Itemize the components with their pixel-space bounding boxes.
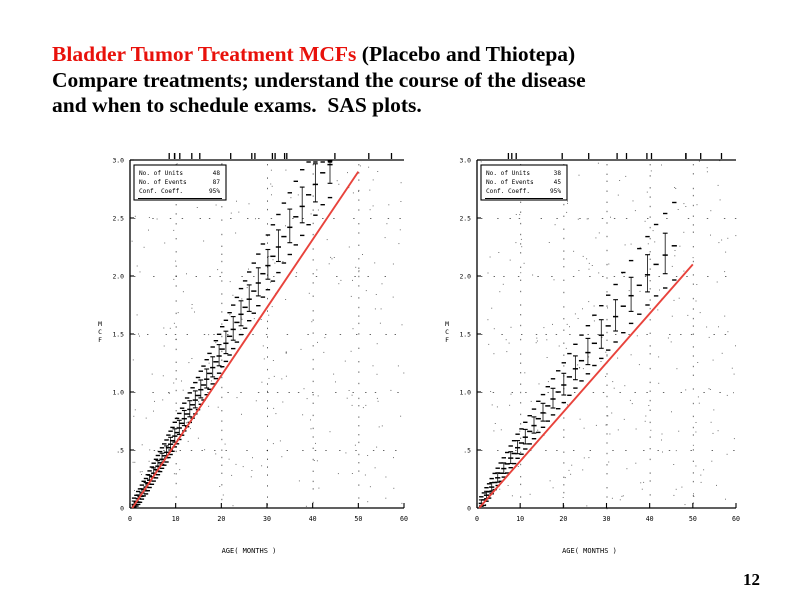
scan-artifact-dot: [140, 471, 141, 472]
scan-artifact-dot: [519, 431, 520, 432]
scan-artifact-dot: [659, 290, 660, 291]
scan-artifact-row-dot: [556, 450, 557, 451]
scan-artifact-row-dot: [399, 218, 400, 219]
scan-artifact-column-dot: [358, 307, 359, 308]
scan-artifact-dot: [188, 362, 189, 363]
scan-artifact-dot: [330, 431, 331, 432]
y-axis-title-char: C: [445, 328, 449, 336]
scan-artifact-dot: [579, 175, 580, 176]
scan-artifact-dot: [280, 440, 281, 441]
scan-artifact-dot: [377, 398, 378, 399]
scan-artifact-dot: [142, 471, 143, 472]
scan-artifact-dot: [584, 457, 585, 458]
scan-artifact-dot: [378, 401, 379, 402]
scan-artifact-dot: [548, 381, 549, 382]
scan-artifact-row-dot: [204, 334, 205, 335]
scan-artifact-column-dot: [607, 164, 608, 165]
scan-artifact-dot: [382, 425, 383, 426]
scan-artifact-row-dot: [163, 450, 164, 451]
scan-artifact-column-dot: [563, 429, 564, 430]
scan-artifact-column-dot: [650, 345, 651, 346]
scan-artifact-column-dot: [176, 238, 177, 239]
scan-artifact-dot: [494, 328, 495, 329]
title-line-2: Compare treatments; understand the cours…: [52, 68, 742, 94]
scan-artifact-dot: [635, 210, 636, 211]
scan-artifact-row-dot: [292, 218, 293, 219]
scan-artifact-dot: [204, 449, 205, 450]
scan-artifact-row-dot: [176, 276, 177, 277]
scan-artifact-dot: [718, 326, 719, 327]
scan-artifact-row-dot: [707, 276, 708, 277]
scan-artifact-column-dot: [520, 372, 521, 373]
right-plot-xlabel: AGE( MONTHS ): [562, 547, 617, 555]
legend-row-value: 48: [213, 170, 221, 177]
scan-artifact-column-dot: [650, 391, 651, 392]
scan-artifact-column-dot: [221, 420, 222, 421]
scan-artifact-dot: [516, 214, 517, 215]
scan-artifact-row-dot: [545, 450, 546, 451]
legend-row-value: 87: [213, 179, 221, 186]
scan-artifact-dot: [563, 497, 564, 498]
scan-artifact-row-dot: [170, 218, 171, 219]
y-tick-label: .5: [116, 446, 124, 454]
scan-artifact-column-dot: [520, 252, 521, 253]
scan-artifact-column-dot: [176, 390, 177, 391]
scan-artifact-column-dot: [607, 415, 608, 416]
scan-artifact-column-dot: [520, 291, 521, 292]
scan-artifact-column-dot: [267, 391, 268, 392]
scan-artifact-dot: [508, 485, 509, 486]
scan-artifact-dot: [197, 207, 198, 208]
scan-artifact-column-dot: [650, 299, 651, 300]
scan-artifact-dot: [310, 419, 311, 420]
scan-artifact-dot: [701, 482, 702, 483]
scan-artifact-dot: [173, 383, 174, 384]
scan-artifact-row-dot: [191, 450, 192, 451]
scan-artifact-row-dot: [691, 450, 692, 451]
scan-artifact-dot: [264, 358, 265, 359]
scan-artifact-dot: [401, 182, 402, 183]
scan-artifact-dot: [612, 498, 613, 499]
scan-artifact-dot: [271, 170, 272, 171]
scan-artifact-row-dot: [503, 276, 504, 277]
scan-artifact-row-dot: [295, 276, 296, 277]
scan-artifact-row-dot: [258, 218, 259, 219]
scan-artifact-dot: [338, 283, 339, 284]
scan-artifact-column-dot: [607, 424, 608, 425]
y-axis-title-char: F: [445, 336, 449, 344]
scan-artifact-row-dot: [501, 334, 502, 335]
scan-artifact-dot: [589, 269, 590, 270]
scan-artifact-column-dot: [563, 266, 564, 267]
scan-artifact-column-dot: [358, 371, 359, 372]
scan-artifact-dot: [503, 284, 504, 285]
left-plot-xlabel-host: AGE( MONTHS ): [88, 540, 410, 558]
scan-artifact-dot: [229, 459, 230, 460]
scan-artifact-dot: [375, 308, 376, 309]
scan-artifact-row-dot: [659, 276, 660, 277]
scan-artifact-row-dot: [481, 334, 482, 335]
scan-artifact-dot: [683, 203, 684, 204]
scan-artifact-column-dot: [313, 282, 314, 283]
legend-row-label: No. of Units: [139, 170, 183, 177]
legend-row-label: Conf. Coeff.: [486, 188, 530, 195]
scan-artifact-dot: [208, 334, 209, 335]
scan-artifact-column-dot: [693, 472, 694, 473]
scan-artifact-dot: [648, 405, 649, 406]
scan-artifact-row-dot: [666, 218, 667, 219]
scan-artifact-column-dot: [650, 308, 651, 309]
slide-canvas: Bladder Tumor Treatment MCFs (Placebo an…: [0, 0, 792, 612]
scan-artifact-dot: [296, 272, 297, 273]
scan-artifact-row-dot: [368, 276, 369, 277]
scan-artifact-column-dot: [650, 206, 651, 207]
scan-artifact-column-dot: [693, 434, 694, 435]
scan-artifact-column-dot: [650, 368, 651, 369]
scan-artifact-dot: [318, 488, 319, 489]
scan-artifact-column-dot: [520, 438, 521, 439]
scan-artifact-row-dot: [202, 450, 203, 451]
scan-artifact-dot: [270, 184, 271, 185]
scan-artifact-column-dot: [358, 315, 359, 316]
scan-artifact-row-dot: [287, 334, 288, 335]
scan-artifact-row-dot: [220, 276, 221, 277]
scan-artifact-dot: [537, 341, 538, 342]
scan-artifact-column-dot: [176, 285, 177, 286]
scan-artifact-dot: [607, 307, 608, 308]
scan-artifact-row-dot: [209, 276, 210, 277]
scan-artifact-row-dot: [518, 276, 519, 277]
legend-row-label: No. of Events: [139, 179, 187, 186]
scan-artifact-dot: [645, 416, 646, 417]
scan-artifact-dot: [722, 353, 723, 354]
scan-artifact-dot: [711, 422, 712, 423]
scan-artifact-column-dot: [650, 175, 651, 176]
scan-artifact-dot: [286, 353, 287, 354]
scan-artifact-dot: [236, 201, 237, 202]
scan-artifact-dot: [379, 426, 380, 427]
scan-artifact-dot: [654, 241, 655, 242]
scan-artifact-row-dot: [494, 276, 495, 277]
scan-artifact-column-dot: [520, 212, 521, 213]
scan-artifact-dot: [137, 314, 138, 315]
scan-artifact-row-dot: [147, 334, 148, 335]
scan-artifact-column-dot: [221, 351, 222, 352]
scan-artifact-dot: [653, 230, 654, 231]
scan-artifact-row-dot: [623, 276, 624, 277]
scan-artifact-row-dot: [180, 450, 181, 451]
scan-artifact-dot: [518, 466, 519, 467]
scan-artifact-dot: [173, 279, 174, 280]
scan-artifact-dot: [643, 482, 644, 483]
scan-artifact-dot: [637, 335, 638, 336]
scan-artifact-dot: [144, 247, 145, 248]
scan-artifact-dot: [703, 469, 704, 470]
scan-artifact-dot: [547, 357, 548, 358]
scan-artifact-dot: [695, 432, 696, 433]
scan-artifact-dot: [370, 209, 371, 210]
scan-artifact-column-dot: [693, 355, 694, 356]
scan-artifact-column-dot: [221, 410, 222, 411]
scan-artifact-column-dot: [267, 485, 268, 486]
scan-artifact-dot: [633, 200, 634, 201]
scan-artifact-row-dot: [336, 276, 337, 277]
scan-artifact-dot: [358, 271, 359, 272]
scan-artifact-row-dot: [669, 334, 670, 335]
scan-artifact-dot: [315, 443, 316, 444]
scan-artifact-dot: [230, 281, 231, 282]
scan-artifact-dot: [192, 304, 193, 305]
scan-artifact-dot: [724, 271, 725, 272]
scan-artifact-column-dot: [650, 319, 651, 320]
scan-artifact-column-dot: [563, 355, 564, 356]
scan-artifact-column-dot: [267, 408, 268, 409]
scan-artifact-dot: [488, 344, 489, 345]
scan-artifact-dot: [707, 167, 708, 168]
scan-artifact-row-dot: [302, 450, 303, 451]
scan-artifact-column-dot: [221, 234, 222, 235]
scan-artifact-row-dot: [273, 276, 274, 277]
scan-artifact-column-dot: [563, 477, 564, 478]
scan-artifact-dot: [707, 171, 708, 172]
scan-artifact-column-dot: [607, 202, 608, 203]
scan-artifact-dot: [333, 374, 334, 375]
scan-artifact-row-dot: [548, 392, 549, 393]
scan-artifact-dot: [711, 461, 712, 462]
scan-artifact-column-dot: [313, 359, 314, 360]
scan-artifact-row-dot: [333, 218, 334, 219]
scan-artifact-row-dot: [541, 218, 542, 219]
scan-artifact-dot: [617, 358, 618, 359]
scan-artifact-dot: [133, 359, 134, 360]
scan-artifact-row-dot: [481, 450, 482, 451]
scan-artifact-column-dot: [313, 428, 314, 429]
scan-artifact-dot: [235, 233, 236, 234]
scan-artifact-row-dot: [267, 450, 268, 451]
scan-artifact-dot: [223, 495, 224, 496]
scan-artifact-dot: [566, 212, 567, 213]
scan-artifact-dot: [673, 495, 674, 496]
scan-artifact-dot: [183, 291, 184, 292]
scan-artifact-column-dot: [358, 285, 359, 286]
scan-artifact-row-dot: [635, 392, 636, 393]
y-tick-label: 0: [467, 504, 471, 512]
scan-artifact-dot: [347, 398, 348, 399]
scan-artifact-dot: [133, 416, 134, 417]
scan-artifact-dot: [546, 413, 547, 414]
scan-artifact-dot: [642, 489, 643, 490]
scan-artifact-column-dot: [693, 318, 694, 319]
scan-artifact-column-dot: [607, 174, 608, 175]
scan-artifact-dot: [733, 392, 734, 393]
scan-artifact-column-dot: [607, 496, 608, 497]
scan-artifact-dot: [365, 405, 366, 406]
scan-artifact-dot: [658, 356, 659, 357]
scan-artifact-row-dot: [325, 450, 326, 451]
scan-artifact-dot: [330, 257, 331, 258]
scan-artifact-dot: [188, 441, 189, 442]
scan-artifact-dot: [648, 243, 649, 244]
scan-artifact-dot: [594, 306, 595, 307]
scan-artifact-column-dot: [650, 259, 651, 260]
scan-artifact-dot: [215, 342, 216, 343]
scan-artifact-dot: [716, 485, 717, 486]
scan-artifact-dot: [532, 275, 533, 276]
scan-artifact-column-dot: [313, 481, 314, 482]
scan-artifact-dot: [242, 319, 243, 320]
scan-artifact-dot: [521, 246, 522, 247]
scan-artifact-row-dot: [267, 392, 268, 393]
scan-artifact-column-dot: [176, 463, 177, 464]
scan-artifact-column-dot: [267, 298, 268, 299]
scan-artifact-dot: [249, 203, 250, 204]
scan-artifact-dot: [709, 388, 710, 389]
scan-artifact-column-dot: [693, 164, 694, 165]
scan-artifact-dot: [241, 298, 242, 299]
scan-artifact-dot: [255, 218, 256, 219]
scan-artifact-row-dot: [493, 392, 494, 393]
scan-artifact-row-dot: [370, 334, 371, 335]
scan-artifact-dot: [675, 250, 676, 251]
scan-artifact-dot: [302, 414, 303, 415]
scan-artifact-dot: [314, 460, 315, 461]
scan-artifact-dot: [487, 319, 488, 320]
scan-artifact-column-dot: [221, 450, 222, 451]
scan-artifact-dot: [352, 395, 353, 396]
scan-artifact-dot: [718, 430, 719, 431]
scan-artifact-dot: [285, 299, 286, 300]
scan-artifact-dot: [607, 356, 608, 357]
x-tick-label: 10: [516, 515, 524, 523]
scan-artifact-dot: [362, 254, 363, 255]
scan-artifact-dot: [345, 452, 346, 453]
scan-artifact-dot: [268, 315, 269, 316]
scan-artifact-dot: [636, 429, 637, 430]
scan-artifact-dot: [531, 401, 532, 402]
scan-artifact-dot: [661, 165, 662, 166]
scan-artifact-row-dot: [551, 276, 552, 277]
scan-artifact-dot: [543, 327, 544, 328]
scan-artifact-dot: [492, 404, 493, 405]
scan-artifact-column-dot: [267, 242, 268, 243]
scan-artifact-dot: [353, 328, 354, 329]
scan-artifact-dot: [586, 505, 587, 506]
scan-artifact-dot: [582, 469, 583, 470]
scan-artifact-dot: [263, 345, 264, 346]
scan-artifact-dot: [216, 205, 217, 206]
scan-artifact-row-dot: [353, 218, 354, 219]
scan-artifact-dot: [675, 188, 676, 189]
scan-artifact-dot: [710, 235, 711, 236]
scan-artifact-column-dot: [313, 394, 314, 395]
scan-artifact-column-dot: [607, 442, 608, 443]
scan-artifact-row-dot: [241, 276, 242, 277]
scan-artifact-dot: [537, 430, 538, 431]
scan-artifact-dot: [247, 287, 248, 288]
scan-artifact-column-dot: [563, 462, 564, 463]
scan-artifact-dot: [377, 343, 378, 344]
scan-artifact-dot: [609, 434, 610, 435]
scan-artifact-column-dot: [650, 268, 651, 269]
scan-artifact-dot: [252, 457, 253, 458]
scan-artifact-dot: [273, 443, 274, 444]
scan-artifact-column-dot: [650, 436, 651, 437]
scan-artifact-column-dot: [650, 448, 651, 449]
scan-artifact-row-dot: [356, 334, 357, 335]
scan-artifact-dot: [173, 230, 174, 231]
scan-artifact-column-dot: [221, 280, 222, 281]
scan-artifact-column-dot: [176, 473, 177, 474]
scan-artifact-dot: [367, 455, 368, 456]
scan-artifact-dot: [549, 242, 550, 243]
scan-artifact-dot: [157, 219, 158, 220]
scan-artifact-dot: [579, 367, 580, 368]
scan-artifact-row-dot: [385, 276, 386, 277]
scan-artifact-row-dot: [536, 334, 537, 335]
scan-artifact-dot: [632, 403, 633, 404]
scan-artifact-dot: [134, 490, 135, 491]
scan-artifact-dot: [377, 374, 378, 375]
scan-artifact-column-dot: [267, 474, 268, 475]
scan-artifact-dot: [640, 291, 641, 292]
scan-artifact-column-dot: [313, 332, 314, 333]
scan-artifact-row-dot: [227, 334, 228, 335]
scan-artifact-row-dot: [589, 276, 590, 277]
scan-artifact-dot: [618, 195, 619, 196]
scan-artifact-dot: [311, 213, 312, 214]
scan-artifact-column-dot: [176, 403, 177, 404]
scan-artifact-dot: [393, 297, 394, 298]
scan-artifact-dot: [586, 258, 587, 259]
scan-artifact-column-dot: [176, 204, 177, 205]
scan-artifact-column-dot: [693, 375, 694, 376]
scan-artifact-column-dot: [358, 268, 359, 269]
scan-artifact-column-dot: [607, 464, 608, 465]
scan-artifact-dot: [163, 375, 164, 376]
scan-artifact-column-dot: [221, 293, 222, 294]
scan-artifact-column-dot: [607, 236, 608, 237]
scan-artifact-dot: [380, 323, 381, 324]
scan-artifact-dot: [183, 390, 184, 391]
scan-artifact-dot: [149, 217, 150, 218]
scan-artifact-dot: [385, 237, 386, 238]
scan-artifact-column-dot: [693, 416, 694, 417]
scan-artifact-column-dot: [607, 181, 608, 182]
scan-artifact-dot: [370, 486, 371, 487]
scan-artifact-row-dot: [612, 450, 613, 451]
scan-artifact-column-dot: [358, 258, 359, 259]
scan-artifact-dot: [569, 326, 570, 327]
scan-artifact-column-dot: [520, 384, 521, 385]
legend-row-value: 45: [554, 179, 562, 186]
scan-artifact-row-dot: [588, 334, 589, 335]
scan-artifact-dot: [285, 170, 286, 171]
scan-artifact-dot: [520, 272, 521, 273]
scan-artifact-column-dot: [176, 496, 177, 497]
scan-artifact-row-dot: [226, 450, 227, 451]
scan-artifact-dot: [375, 467, 376, 468]
scan-artifact-column-dot: [358, 348, 359, 349]
scan-artifact-dot: [495, 423, 496, 424]
scan-artifact-dot: [376, 447, 377, 448]
scan-artifact-column-dot: [221, 219, 222, 220]
scan-artifact-column-dot: [693, 216, 694, 217]
scan-artifact-dot: [281, 378, 282, 379]
scan-artifact-row-dot: [315, 450, 316, 451]
scan-artifact-dot: [555, 224, 556, 225]
scan-artifact-column-dot: [563, 238, 564, 239]
scan-artifact-column-dot: [607, 191, 608, 192]
